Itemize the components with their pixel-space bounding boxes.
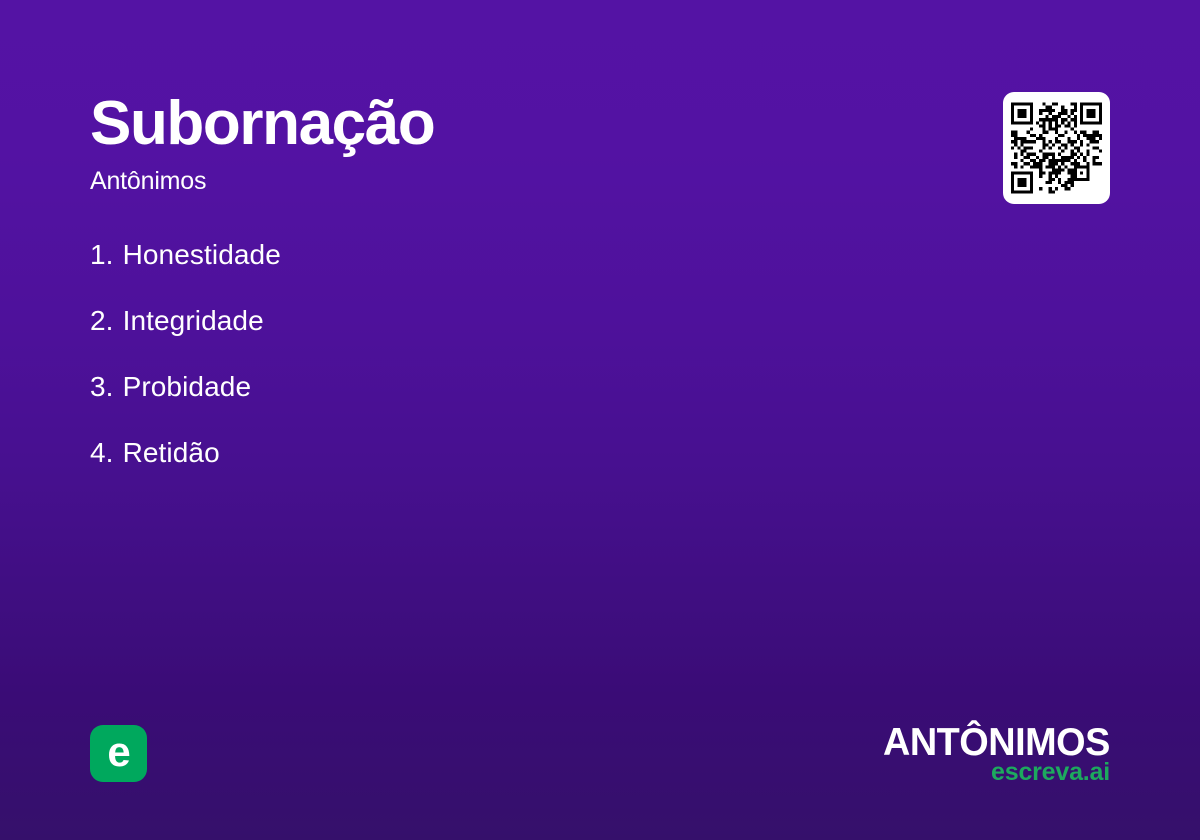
list-item-label: Retidão <box>123 437 220 468</box>
page-title: Subornação <box>90 88 850 160</box>
footer-logo-title: ANTÔNIMOS <box>883 722 1110 764</box>
headline-block: Subornação Antônimos <box>90 88 850 196</box>
list-item: 2.Integridade <box>90 304 281 338</box>
list-item-index: 2. <box>90 304 114 338</box>
list-item-label: Integridade <box>123 305 264 336</box>
brand-badge-letter: e <box>107 731 129 773</box>
list-item-index: 1. <box>90 238 114 272</box>
qr-code-panel[interactable] <box>1003 92 1110 204</box>
list-item-label: Probidade <box>123 371 252 402</box>
list-item: 3.Probidade <box>90 370 281 404</box>
list-item-index: 4. <box>90 436 114 470</box>
qr-code-icon <box>1011 100 1102 196</box>
list-item-index: 3. <box>90 370 114 404</box>
antonym-card: Subornação Antônimos 1.Honestidade 2.Int… <box>0 0 1200 840</box>
page-subtitle: Antônimos <box>90 166 850 196</box>
list-item: 4.Retidão <box>90 436 281 470</box>
list-item: 1.Honestidade <box>90 238 281 272</box>
antonym-list: 1.Honestidade 2.Integridade 3.Probidade … <box>90 238 281 470</box>
list-item-label: Honestidade <box>123 239 281 270</box>
footer-logo: ANTÔNIMOS escreva.ai <box>876 722 1110 786</box>
escreva-brand-badge[interactable]: e <box>90 725 147 782</box>
